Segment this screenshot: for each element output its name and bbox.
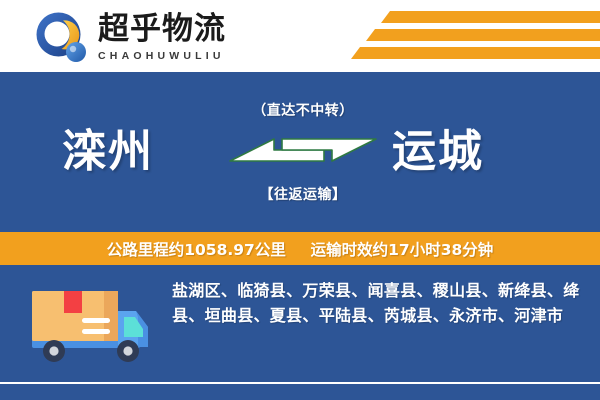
coverage-area-list: 盐湖区、临猗县、万荣县、闻喜县、稷山县、新绛县、绛县、垣曲县、夏县、平陆县、芮城… <box>172 278 586 328</box>
speed-stripes-decoration <box>360 9 600 65</box>
roundtrip-shipping-note: 【往返运输】 <box>228 184 378 204</box>
stripe-3 <box>351 47 600 59</box>
stripe-2 <box>366 29 600 41</box>
brand-logo[interactable]: 超乎物流 CHAOHUWULIU <box>34 8 274 68</box>
distance-label: 公路里程约1058.97公里 <box>107 241 286 259</box>
route-info-bar: 公路里程约1058.97公里 运输时效约17小时38分钟 <box>0 232 600 265</box>
bidirectional-arrow-icon <box>228 128 378 170</box>
duration-label: 运输时效约17小时38分钟 <box>311 241 494 259</box>
logistics-route-banner: 超乎物流 CHAOHUWULIU 滦州 （直达不中转） 【往返运输】 <box>0 0 600 400</box>
brand-text-block: 超乎物流 CHAOHUWULIU <box>98 11 273 67</box>
banner-header: 超乎物流 CHAOHUWULIU <box>0 0 600 72</box>
destination-city: 运城 <box>392 129 484 175</box>
footer-strip <box>0 384 600 400</box>
route-middle-group: （直达不中转） 【往返运输】 <box>228 100 378 210</box>
route-info-text: 公路里程约1058.97公里 运输时效约17小时38分钟 <box>107 238 494 260</box>
brand-name-en: CHAOHUWULIU <box>98 49 273 63</box>
delivery-truck-icon <box>26 277 156 369</box>
origin-city: 滦州 <box>62 129 154 175</box>
stripe-1 <box>381 11 600 23</box>
coverage-panel: 盐湖区、临猗县、万荣县、闻喜县、稷山县、新绛县、绛县、垣曲县、夏县、平陆县、芮城… <box>0 265 600 384</box>
brand-name-cn: 超乎物流 <box>98 11 273 47</box>
route-panel: 滦州 （直达不中转） 【往返运输】 运城 <box>0 72 600 232</box>
direct-shipping-note: （直达不中转） <box>228 100 378 120</box>
circular-q-logo-icon <box>34 10 90 66</box>
